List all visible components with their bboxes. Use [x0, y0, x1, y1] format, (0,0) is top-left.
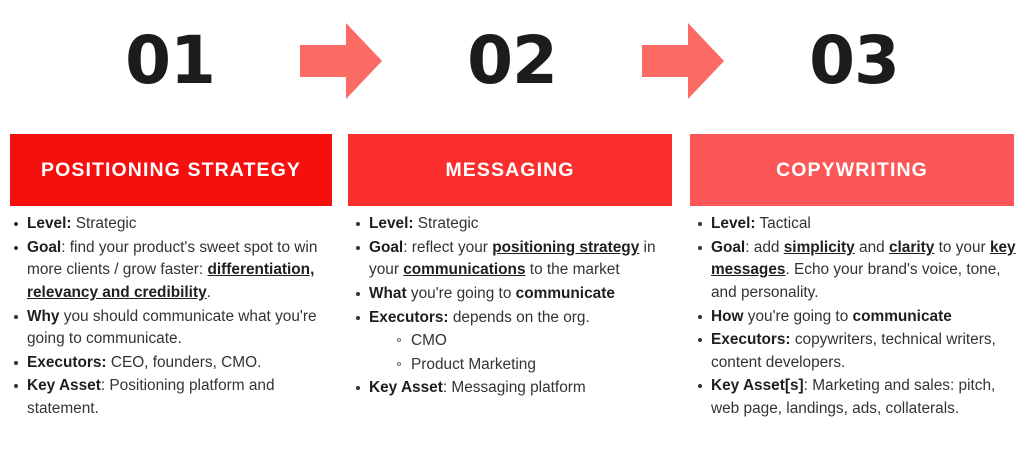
list-item: Level: Strategic	[10, 213, 334, 236]
bullet-list-2: Level: Strategic Goal: reflect your posi…	[352, 213, 678, 400]
bullet-label: How	[711, 308, 744, 325]
bullet-tail: .	[207, 284, 211, 301]
sub-list-item: Product Marketing	[395, 353, 678, 376]
bullet-tail: to the market	[526, 261, 620, 278]
bullet-text: you're going to	[744, 308, 853, 325]
banner-positioning-strategy: POSITIONING STRATEGY	[10, 134, 332, 206]
bullet-label: Executors:	[369, 309, 449, 326]
bullet-label: Level:	[369, 215, 413, 232]
bullet-label: Key Asset	[27, 377, 101, 394]
step-number-03: 03	[809, 28, 899, 94]
arrow-2-to-3	[682, 23, 684, 99]
step-number-cell-3: 03	[684, 28, 1024, 94]
bullet-label: Goal	[711, 239, 745, 256]
step-number-cell-1: 01	[0, 28, 340, 94]
list-item: Level: Strategic	[352, 213, 678, 236]
bullet-label: Goal	[369, 239, 403, 256]
column-copywriting: Level: Tactical Goal: add simplicity and…	[694, 213, 1018, 422]
bullet-text: : add	[745, 239, 784, 256]
bullet-label: Key Asset[s]	[711, 377, 804, 394]
bullet-mid-2: to your	[934, 239, 990, 256]
list-item: Executors: CEO, founders, CMO.	[10, 352, 334, 375]
bullet-text: depends on the org.	[449, 309, 590, 326]
list-item: Key Asset[s]: Marketing and sales: pitch…	[694, 375, 1018, 420]
bullet-label: Level:	[711, 215, 755, 232]
banner-messaging: MESSAGING	[348, 134, 672, 206]
step-numbers-row: 01 02 03	[0, 0, 1024, 122]
bullet-label: What	[369, 285, 407, 302]
content-columns: Level: Strategic Goal: find your product…	[0, 213, 1024, 455]
list-item: Why you should communicate what you're g…	[10, 306, 334, 351]
step-number-02: 02	[467, 28, 557, 94]
bullet-label: Key Asset	[369, 379, 443, 396]
bullet-text: Strategic	[413, 215, 478, 232]
list-item: Goal: reflect your positioning strategy …	[352, 237, 678, 282]
bullet-text: you're going to	[407, 285, 516, 302]
bullet-text: Tactical	[755, 215, 810, 232]
banner-title-3: COPYWRITING	[776, 159, 928, 182]
bullet-label: Executors:	[27, 354, 107, 371]
step-number-cell-2: 02	[342, 28, 682, 94]
banner-row: POSITIONING STRATEGY MESSAGING COPYWRITI…	[0, 134, 1024, 206]
list-item: Key Asset: Positioning platform and stat…	[10, 375, 334, 420]
bullet-label: Level:	[27, 215, 71, 232]
list-item: Goal: add simplicity and clarity to your…	[694, 237, 1018, 305]
bullet-label: Why	[27, 308, 60, 325]
bullet-list-3: Level: Tactical Goal: add simplicity and…	[694, 213, 1018, 421]
bullet-list-1: Level: Strategic Goal: find your product…	[10, 213, 334, 421]
bullet-strong-tail: communicate	[516, 285, 615, 302]
infographic-page: { "theme": { "banner_color_1": "#F50F0F"…	[0, 0, 1024, 455]
bullet-text: Strategic	[71, 215, 136, 232]
list-item: Executors: depends on the org. CMO Produ…	[352, 307, 678, 376]
step-number-01: 01	[125, 28, 215, 94]
banner-title-1: POSITIONING STRATEGY	[41, 159, 301, 182]
bullet-label: Executors:	[711, 331, 791, 348]
list-item: What you're going to communicate	[352, 283, 678, 306]
list-item: Key Asset: Messaging platform	[352, 377, 678, 400]
bullet-emphasis: simplicity	[784, 239, 855, 256]
sub-list-item: CMO	[395, 329, 678, 352]
list-item: Executors: copywriters, technical writer…	[694, 329, 1018, 374]
bullet-text: : reflect your	[403, 239, 492, 256]
right-arrow-icon	[300, 23, 382, 99]
bullet-emphasis: positioning strategy	[492, 239, 639, 256]
column-messaging: Level: Strategic Goal: reflect your posi…	[352, 213, 678, 401]
banner-copywriting: COPYWRITING	[690, 134, 1014, 206]
bullet-text: : Messaging platform	[443, 379, 586, 396]
list-item: Level: Tactical	[694, 213, 1018, 236]
bullet-text: you should communicate what you're going…	[27, 308, 317, 348]
bullet-emphasis-2: communications	[403, 261, 525, 278]
sub-bullet-list: CMO Product Marketing	[369, 329, 678, 376]
column-positioning-strategy: Level: Strategic Goal: find your product…	[10, 213, 334, 422]
bullet-strong-tail: communicate	[853, 308, 952, 325]
bullet-label: Goal	[27, 239, 61, 256]
list-item: How you're going to communicate	[694, 306, 1018, 329]
bullet-mid: and	[855, 239, 889, 256]
banner-title-2: MESSAGING	[445, 159, 574, 182]
list-item: Goal: find your product's sweet spot to …	[10, 237, 334, 305]
arrow-1-to-2	[340, 23, 342, 99]
bullet-text: CEO, founders, CMO.	[107, 354, 262, 371]
right-arrow-icon	[642, 23, 724, 99]
bullet-emphasis-2: clarity	[889, 239, 934, 256]
